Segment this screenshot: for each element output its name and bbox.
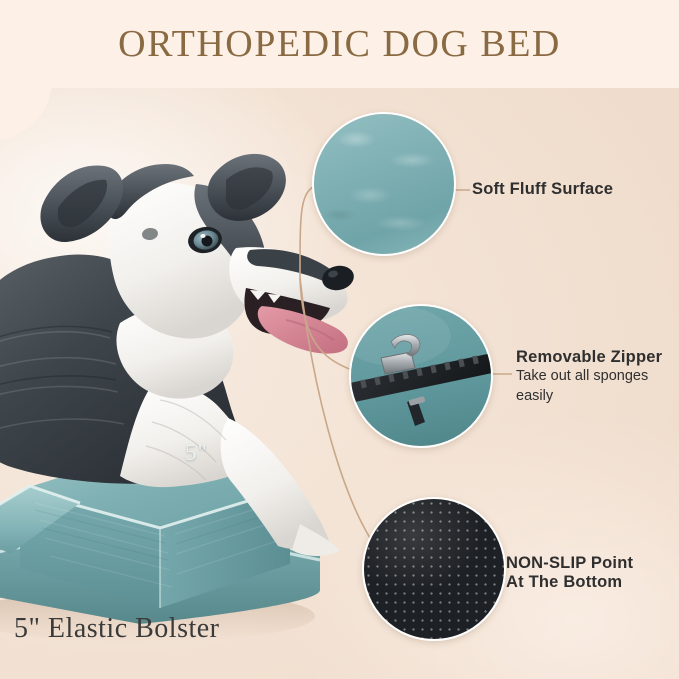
annotation-heading: NON-SLIP Point (506, 554, 633, 573)
product-infographic: ORTHOPEDIC DOG BED (0, 0, 679, 679)
annotation-non-slip: NON-SLIP Point At The Bottom (506, 554, 633, 592)
callout-swatch-soft-fluff (312, 112, 456, 256)
page-title: ORTHOPEDIC DOG BED (118, 22, 561, 66)
annotation-soft-fluff: Soft Fluff Surface (472, 180, 613, 199)
product-photo: 5" 5" Elastic Bolster (0, 88, 679, 679)
bolster-caption: 5" Elastic Bolster (14, 613, 220, 645)
zipper-swatch (351, 306, 491, 446)
annotation-subtext: At The Bottom (506, 573, 633, 592)
callout-swatch-non-slip (362, 497, 506, 641)
annotation-subtext: Take out all sponges easily (516, 367, 666, 406)
annotation-heading: Soft Fluff Surface (472, 180, 613, 199)
annotation-heading: Removable Zipper (516, 348, 666, 367)
callout-swatch-zipper (349, 304, 493, 448)
annotation-removable-zipper: Removable Zipper Take out all sponges ea… (516, 348, 666, 406)
non-slip-dots-swatch (364, 499, 504, 639)
fluff-fabric-swatch (314, 114, 454, 254)
title-bar: ORTHOPEDIC DOG BED (0, 0, 679, 88)
bed-depth-label: 5" (185, 440, 208, 466)
